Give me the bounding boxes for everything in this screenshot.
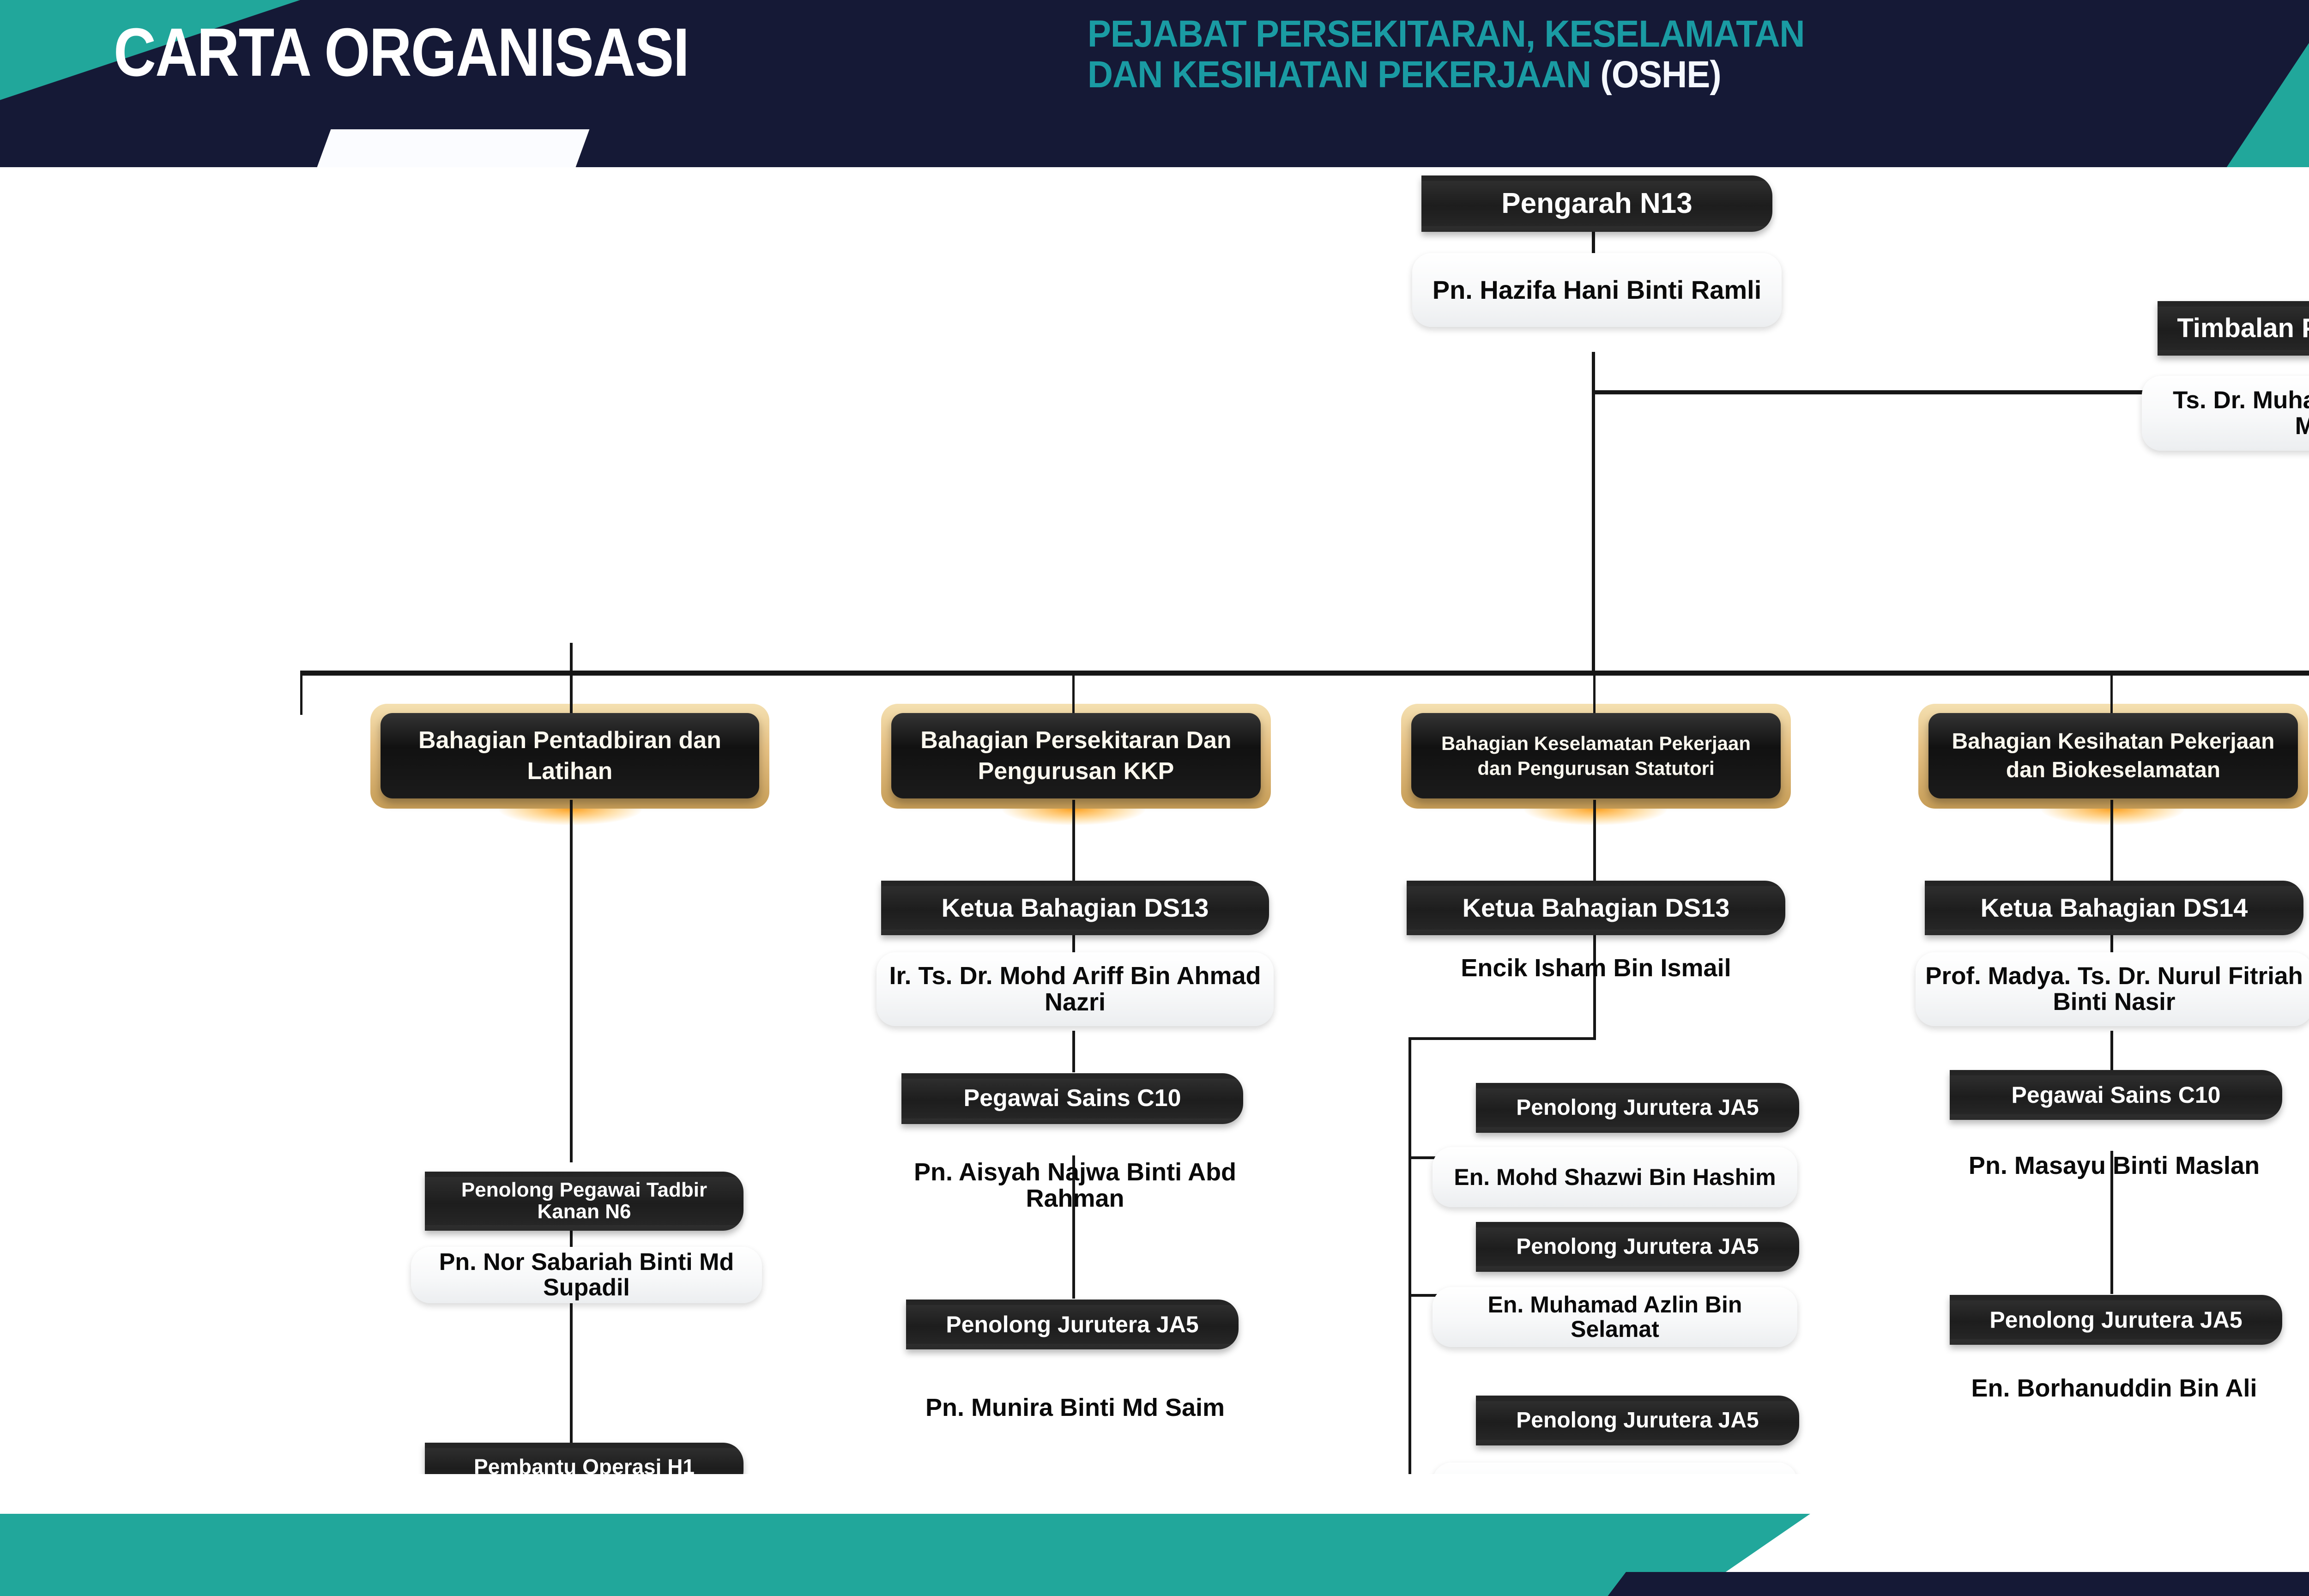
role-div3-staff1[interactable]: Ketua Bahagian DS13 <box>1407 881 1785 935</box>
person-div2-staff1[interactable]: Ir. Ts. Dr. Mohd Ariff Bin Ahmad Nazri <box>876 952 1274 1026</box>
person-div2-staff2[interactable]: Pn. Aisyah Najwa Binti Abd Rahman <box>876 1151 1274 1220</box>
role-deputy[interactable]: Timbalan Pengarah DS13 <box>2158 301 2309 356</box>
role-div2-staff3[interactable]: Penolong Jurutera JA5 <box>906 1300 1239 1349</box>
connector-col4-spine-c <box>2110 1031 2113 1072</box>
page-title: CARTA ORGANISASI <box>114 18 689 87</box>
connector-col1-r2 <box>570 1299 573 1465</box>
footer-teal-decor <box>0 1514 1810 1596</box>
person-div3-staff1[interactable]: Encik Isham Bin Ismail <box>1397 948 1795 989</box>
person-div4-staff3[interactable]: En. Borhanuddin Bin Ali <box>1916 1368 2309 1409</box>
org-chart: Pengarah N13 Pn. Hazifa Hani Binti Ramli… <box>0 167 2309 1474</box>
person-div4-staff1[interactable]: Prof. Madya. Ts. Dr. Nurul Fitriah Binti… <box>1916 952 2309 1026</box>
role-div3-staff2[interactable]: Penolong Jurutera JA5 <box>1476 1083 1799 1133</box>
role-div2-staff1[interactable]: Ketua Bahagian DS13 <box>881 881 1269 935</box>
role-div2-staff2[interactable]: Pegawai Sains C10 <box>901 1073 1243 1124</box>
person-div2-staff3[interactable]: Pn. Munira Binti Md Saim <box>876 1373 1274 1443</box>
connector-main-trunk <box>300 671 2309 676</box>
connector-col3-spine-a <box>1593 800 1596 883</box>
role-div1-staff1[interactable]: Penolong Pegawai Tadbir Kanan N6 <box>425 1172 743 1231</box>
role-div3-staff4[interactable]: Penolong Jurutera JA5 <box>1476 1396 1799 1445</box>
person-director[interactable]: Pn. Hazifa Hani Binti Ramli <box>1412 253 1782 327</box>
person-div1-staff1[interactable]: Pn. Nor Sabariah Binti Md Supadil <box>411 1247 762 1303</box>
person-div3-staff2[interactable]: En. Mohd Shazwi Bin Hashim <box>1433 1147 1797 1207</box>
person-div3-staff3[interactable]: En. Muhamad Azlin Bin Selamat <box>1433 1287 1797 1347</box>
connector-director-person <box>1592 232 1595 254</box>
header-white-slash-decor <box>260 129 590 167</box>
person-div4-staff2[interactable]: Pn. Masayu Binti Maslan <box>1916 1145 2309 1187</box>
connector-col1-spine-top <box>570 643 573 717</box>
person-deputy[interactable]: Ts. Dr. Muhammad Hazli Bin Mazlan <box>2142 376 2309 451</box>
division-box-4[interactable]: Bahagian Kesihatan Pekerjaan dan Biokese… <box>1928 713 2298 798</box>
connector-col3-bracket-vert <box>1408 1037 1411 1504</box>
page-header: CARTA ORGANISASI PEJABAT PERSEKITARAN, K… <box>0 0 2309 167</box>
connector-col3-bracket-top <box>1408 1037 1596 1040</box>
connector-col1-spine <box>570 800 573 1162</box>
page-footer <box>0 1474 2309 1596</box>
division-box-3[interactable]: Bahagian Keselamatan Pekerjaan dan Pengu… <box>1411 713 1781 798</box>
role-div3-staff3[interactable]: Penolong Jurutera JA5 <box>1476 1222 1799 1272</box>
connector-col4-spine-a <box>2110 800 2113 883</box>
division-box-1[interactable]: Bahagian Pentadbiran dan Latihan <box>381 713 759 798</box>
subtitle-line-2: DAN KESIHATAN PEKERJAAN <box>1088 54 1591 96</box>
role-div4-staff1[interactable]: Ketua Bahagian DS14 <box>1925 881 2303 935</box>
connector-drop-div-4 <box>2110 671 2113 714</box>
subtitle-acronym: (OSHE) <box>1600 54 1721 96</box>
connector-director-trunk <box>1592 352 1595 675</box>
connector-col2-spine-a <box>1072 800 1075 883</box>
subtitle-line-1: PEJABAT PERSEKITARAN, KESELAMATAN <box>1088 13 1804 55</box>
role-div4-staff3[interactable]: Penolong Jurutera JA5 <box>1950 1295 2282 1345</box>
footer-navy-decor <box>1584 1572 2309 1596</box>
role-div4-staff2[interactable]: Pegawai Sains C10 <box>1950 1070 2282 1120</box>
connector-drop-div-2 <box>1072 671 1075 714</box>
division-box-2[interactable]: Bahagian Persekitaran Dan Pengurusan KKP <box>891 713 1261 798</box>
connector-trunk-left-cap <box>300 671 302 715</box>
role-director[interactable]: Pengarah N13 <box>1421 175 1772 232</box>
connector-drop-div-3 <box>1593 671 1596 714</box>
connector-col2-spine-c <box>1072 1031 1075 1072</box>
page-subtitle: PEJABAT PERSEKITARAN, KESELAMATAN DAN KE… <box>1088 14 2148 95</box>
